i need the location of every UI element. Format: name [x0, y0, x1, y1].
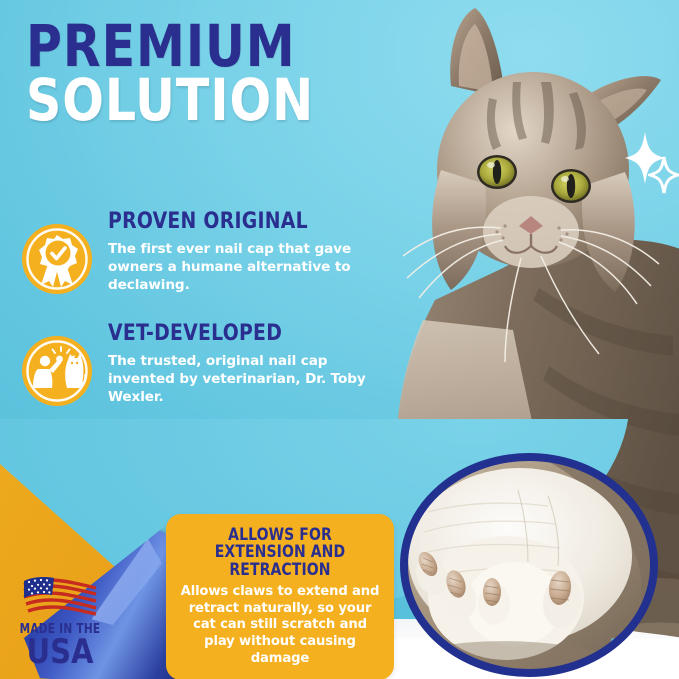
headline: PREMIUM SOLUTION: [26, 22, 426, 126]
feature-body: The trusted, original nail cap invented …: [108, 352, 380, 406]
cat-paw-closeup-photo: [398, 452, 660, 678]
us-flag-icon: [22, 573, 98, 619]
callout-extension-retraction: ALLOWS FOR EXTENSION AND RETRACTION Allo…: [166, 514, 394, 679]
headline-line-2: SOLUTION: [26, 76, 402, 126]
headline-line-1: PREMIUM: [26, 22, 402, 72]
product-infographic-canvas: PREMIUM SOLUTION PROVEN ORIGINAL The: [0, 0, 679, 679]
made-in-usa-line-2: USA: [11, 635, 110, 669]
callout-title: ALLOWS FOR EXTENSION AND RETRACTION: [183, 526, 377, 578]
award-ribbon-icon: [22, 224, 92, 294]
feature-title: PROVEN ORIGINAL: [108, 210, 381, 233]
feature-body: The first ever nail cap that gave owners…: [108, 240, 380, 294]
callout-body: Allows claws to extend and retract natur…: [178, 584, 382, 667]
feature-title: VET-DEVELOPED: [108, 322, 381, 345]
sparkle-icon: [648, 155, 679, 195]
made-in-usa-badge: MADE IN THE USA: [8, 573, 112, 669]
feature-vet-developed: VET-DEVELOPED The trusted, original nail…: [22, 322, 402, 420]
person-high-five-cat-icon: [22, 336, 92, 406]
feature-proven-original: PROVEN ORIGINAL The first ever nail cap …: [22, 210, 402, 310]
